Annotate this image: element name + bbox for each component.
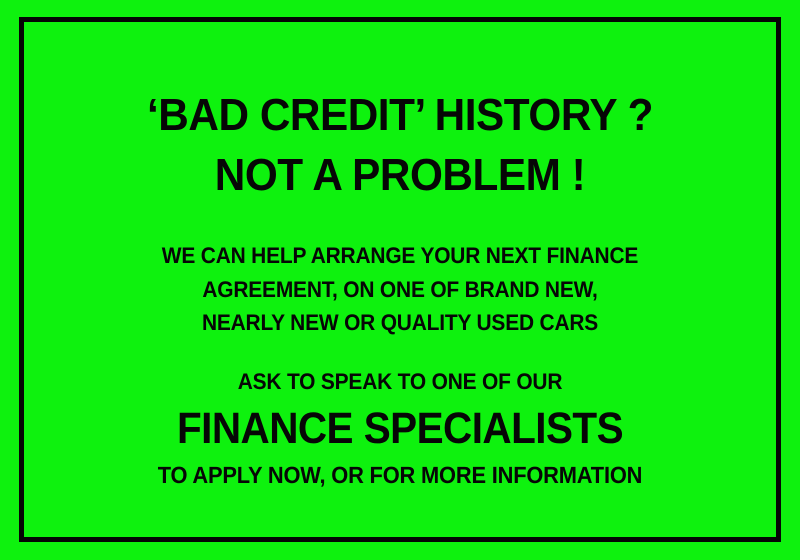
- headline-line-2: NOT A PROBLEM !: [47, 152, 754, 197]
- body-line-1: WE CAN HELP ARRANGE YOUR NEXT FINANCE: [50, 245, 749, 268]
- poster-content: ‘BAD CREDIT’ HISTORY ? NOT A PROBLEM ! W…: [24, 22, 776, 537]
- body-line-2: AGREEMENT, ON ONE OF BRAND NEW,: [50, 279, 749, 302]
- call-to-action-footer: TO APPLY NOW, OR FOR MORE INFORMATION: [50, 464, 749, 488]
- call-to-action-lead-in: ASK TO SPEAK TO ONE OF OUR: [50, 371, 749, 394]
- headline-line-1: ‘BAD CREDIT’ HISTORY ?: [47, 92, 754, 137]
- poster-canvas: ‘BAD CREDIT’ HISTORY ? NOT A PROBLEM ! W…: [0, 0, 800, 560]
- body-line-3: NEARLY NEW OR QUALITY USED CARS: [50, 312, 749, 335]
- call-to-action-headline: FINANCE SPECIALISTS: [54, 407, 746, 451]
